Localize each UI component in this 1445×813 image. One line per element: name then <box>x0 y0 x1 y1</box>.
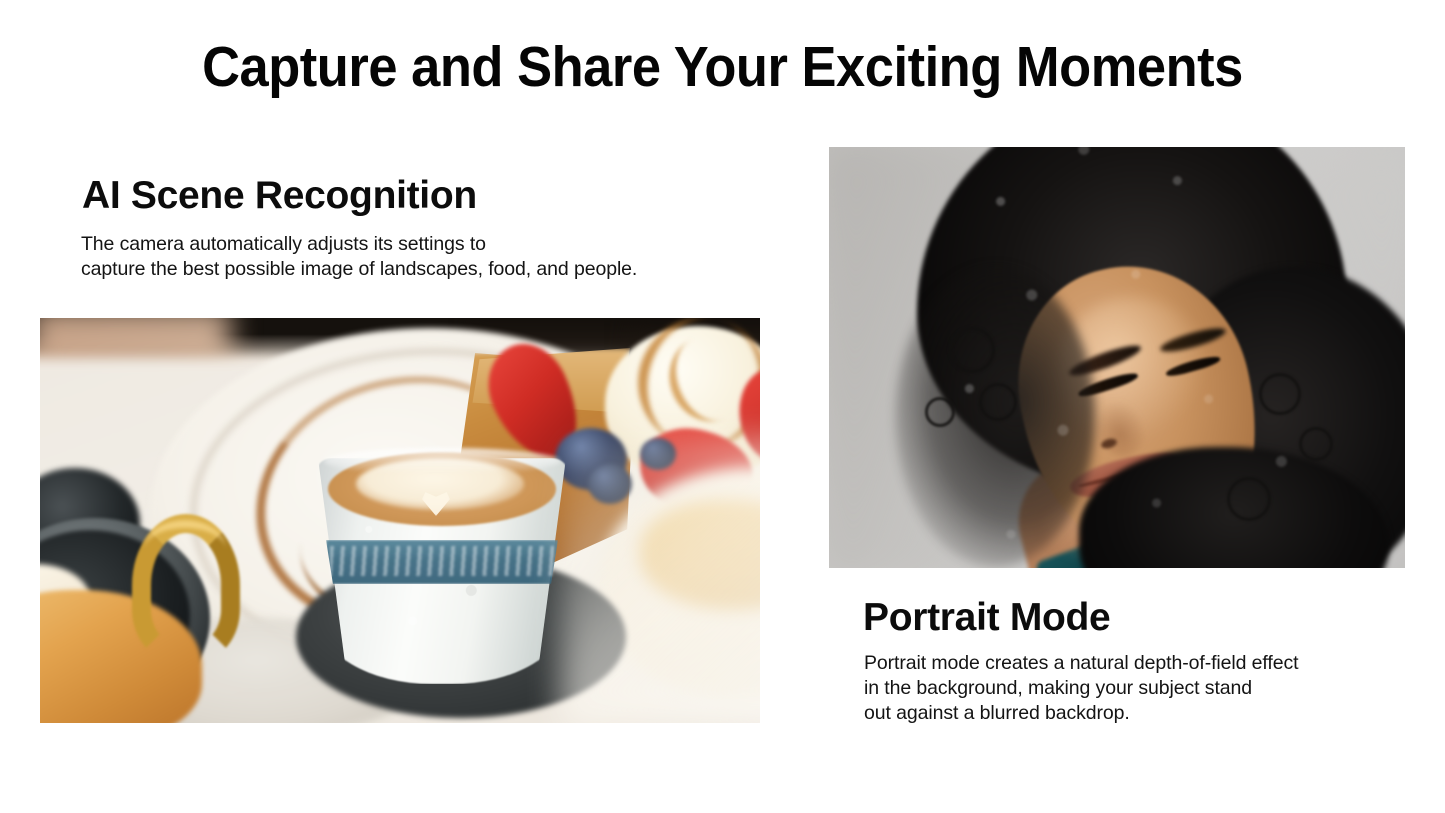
feature-body-portrait-mode: Portrait mode creates a natural depth-of… <box>864 651 1394 726</box>
feature-body-line: Portrait mode creates a natural depth-of… <box>864 651 1394 676</box>
feature-body-line: out against a blurred backdrop. <box>864 701 1394 726</box>
feature-body-line: capture the best possible image of lands… <box>81 257 741 282</box>
page-title: Capture and Share Your Exciting Moments <box>58 34 1387 100</box>
hair-curl <box>979 383 1017 421</box>
cup-rim-highlight <box>324 448 560 474</box>
foreground-blur <box>560 438 760 723</box>
hair-curl <box>1227 477 1271 521</box>
hair-curl <box>949 327 995 373</box>
feature-image-food: ULEFONE NOTE 17 PRO <box>40 318 760 723</box>
brass-handle-highlight <box>144 520 226 580</box>
feature-heading-portrait-mode: Portrait Mode <box>863 594 1110 642</box>
cup-blue-band-texture <box>330 546 554 576</box>
feature-body-ai-scene-recognition: The camera automatically adjusts its set… <box>81 232 741 282</box>
hair-curl <box>925 397 955 427</box>
feature-body-line: The camera automatically adjusts its set… <box>81 232 741 257</box>
feature-heading-ai-scene-recognition: AI Scene Recognition <box>82 172 477 220</box>
slide-root: Capture and Share Your Exciting Moments … <box>0 0 1445 813</box>
feature-body-line: in the background, making your subject s… <box>864 676 1394 701</box>
feature-image-portrait: ULEFONE NOTE 17 PRO <box>829 147 1405 568</box>
hair-curl <box>1259 373 1301 415</box>
hair-curl <box>1299 427 1333 461</box>
